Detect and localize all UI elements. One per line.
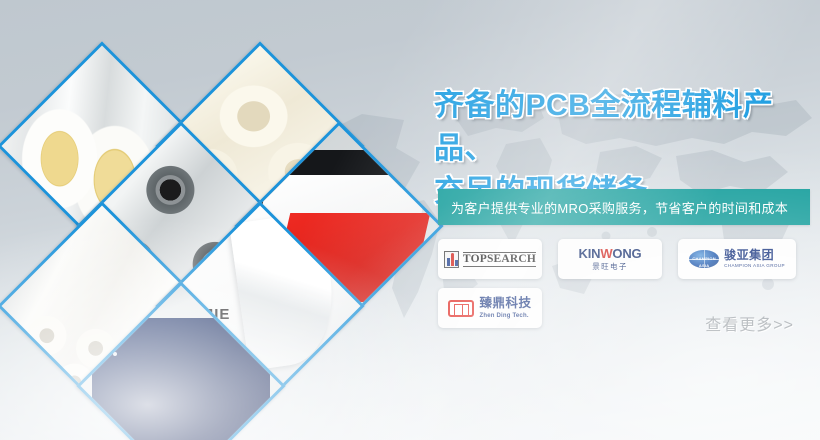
promo-banner: JIE 齐备的PCB全流程辅料产品、 充足的现货储备 为客户提供专业的MRO采购… (0, 0, 820, 440)
view-more-link[interactable]: 查看更多>> (705, 311, 794, 335)
logo-zhen-ding[interactable]: 臻鼎科技 Zhen Ding Tech. (438, 288, 542, 328)
topsearch-lockup: TOPSEARCH (444, 251, 536, 268)
logo-topsearch[interactable]: TOPSEARCH (438, 239, 542, 279)
headline-line-1: 齐备的PCB全流程辅料产品、 (434, 89, 773, 165)
kinwong-lockup: KINWONG 景旺电子 (579, 247, 642, 271)
banner-content: 齐备的PCB全流程辅料产品、 充足的现货储备 为客户提供专业的MRO采购服务，节… (430, 0, 820, 440)
subtitle-bar: 为客户提供专业的MRO采购服务，节省客户的时间和成本 (438, 189, 810, 225)
logo-row-1: TOPSEARCH KINWONG 景旺电子 CHAMPION ASIA (438, 239, 816, 279)
topsearch-wordmark: TOPSEARCH (463, 252, 536, 267)
kinwong-chinese-name: 景旺电子 (592, 263, 628, 271)
champion-asia-chinese-name: 骏亚集团 (724, 249, 785, 261)
zhending-text: 臻鼎科技 Zhen Ding Tech. (479, 297, 531, 319)
globe-icon: CHAMPION ASIA (689, 250, 719, 268)
champion-asia-english-name: CHAMPION ASIA GROUP (724, 264, 785, 269)
champion-asia-lockup: CHAMPION ASIA 骏亚集团 CHAMPION ASIA GROUP (689, 249, 785, 269)
logo-kinwong[interactable]: KINWONG 景旺电子 (558, 239, 662, 279)
topsearch-square-icon (444, 251, 459, 268)
subtitle-text: 为客户提供专业的MRO采购服务，节省客户的时间和成本 (438, 198, 788, 217)
zhending-english-name: Zhen Ding Tech. (479, 313, 531, 319)
zhending-lockup: 臻鼎科技 Zhen Ding Tech. (448, 297, 531, 319)
globe-label: CHAMPION ASIA (691, 255, 717, 262)
logo-champion-asia[interactable]: CHAMPION ASIA 骏亚集团 CHAMPION ASIA GROUP (678, 239, 796, 279)
zhending-square-icon (448, 300, 474, 317)
champion-asia-text: 骏亚集团 CHAMPION ASIA GROUP (724, 249, 785, 269)
product-collage: JIE (0, 0, 430, 440)
zhending-chinese-name: 臻鼎科技 (479, 297, 531, 310)
kinwong-wordmark: KINWONG (579, 247, 642, 260)
